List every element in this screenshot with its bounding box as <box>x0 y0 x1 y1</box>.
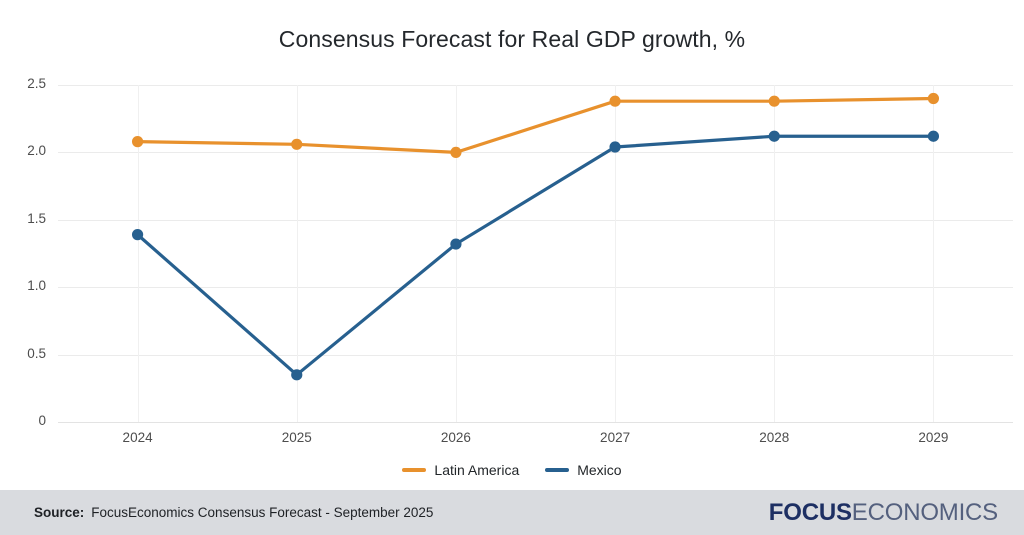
legend-label: Mexico <box>577 462 621 478</box>
chart-container: Consensus Forecast for Real GDP growth, … <box>0 0 1024 490</box>
data-point-marker[interactable] <box>291 369 302 380</box>
data-point-marker[interactable] <box>450 147 461 158</box>
x-axis-tick-label: 2025 <box>282 430 312 445</box>
legend-item[interactable]: Latin America <box>402 462 519 478</box>
x-axis-baseline <box>58 422 1013 423</box>
data-point-marker[interactable] <box>769 96 780 107</box>
x-axis-tick-label: 2029 <box>918 430 948 445</box>
y-axis-tick-label: 1.5 <box>0 211 46 226</box>
y-axis-tick-label: 0 <box>0 413 46 428</box>
y-axis-tick-label: 2.5 <box>0 76 46 91</box>
data-point-marker[interactable] <box>450 238 461 249</box>
data-point-marker[interactable] <box>928 131 939 142</box>
source-label: Source: <box>34 505 84 520</box>
chart-page: Consensus Forecast for Real GDP growth, … <box>0 0 1024 535</box>
y-axis-tick-label: 1.0 <box>0 278 46 293</box>
series-line <box>138 98 934 152</box>
data-point-marker[interactable] <box>609 141 620 152</box>
logo-economics-text: ECONOMICS <box>852 499 998 527</box>
data-point-marker[interactable] <box>928 93 939 104</box>
x-axis-tick-label: 2026 <box>441 430 471 445</box>
legend-color-swatch <box>402 468 426 472</box>
series-line <box>138 136 934 375</box>
x-axis-tick-label: 2027 <box>600 430 630 445</box>
y-axis-tick-label: 0.5 <box>0 346 46 361</box>
plot-area <box>58 85 1013 422</box>
y-axis-tick-label: 2.0 <box>0 143 46 158</box>
legend-color-swatch <box>545 468 569 472</box>
legend-label: Latin America <box>434 462 519 478</box>
logo-focus-text: FOCUS <box>769 499 852 527</box>
y-axis-labels: 2.52.01.51.00.50 <box>0 85 46 422</box>
data-point-marker[interactable] <box>132 136 143 147</box>
data-point-marker[interactable] <box>769 131 780 142</box>
chart-legend: Latin AmericaMexico <box>0 462 1024 478</box>
footer-bar: Source: FocusEconomics Consensus Forecas… <box>0 490 1024 535</box>
source-note: Source: FocusEconomics Consensus Forecas… <box>34 505 433 520</box>
x-axis-labels: 202420252026202720282029 <box>58 430 1013 450</box>
data-point-marker[interactable] <box>291 139 302 150</box>
legend-item[interactable]: Mexico <box>545 462 621 478</box>
data-point-marker[interactable] <box>132 229 143 240</box>
source-text: FocusEconomics Consensus Forecast - Sept… <box>91 505 433 520</box>
series-layer <box>58 85 1013 422</box>
x-axis-tick-label: 2024 <box>123 430 153 445</box>
x-axis-tick-label: 2028 <box>759 430 789 445</box>
focuseconomics-logo: FOCUS ECONOMICS <box>769 499 998 527</box>
chart-title: Consensus Forecast for Real GDP growth, … <box>0 26 1024 53</box>
data-point-marker[interactable] <box>609 96 620 107</box>
